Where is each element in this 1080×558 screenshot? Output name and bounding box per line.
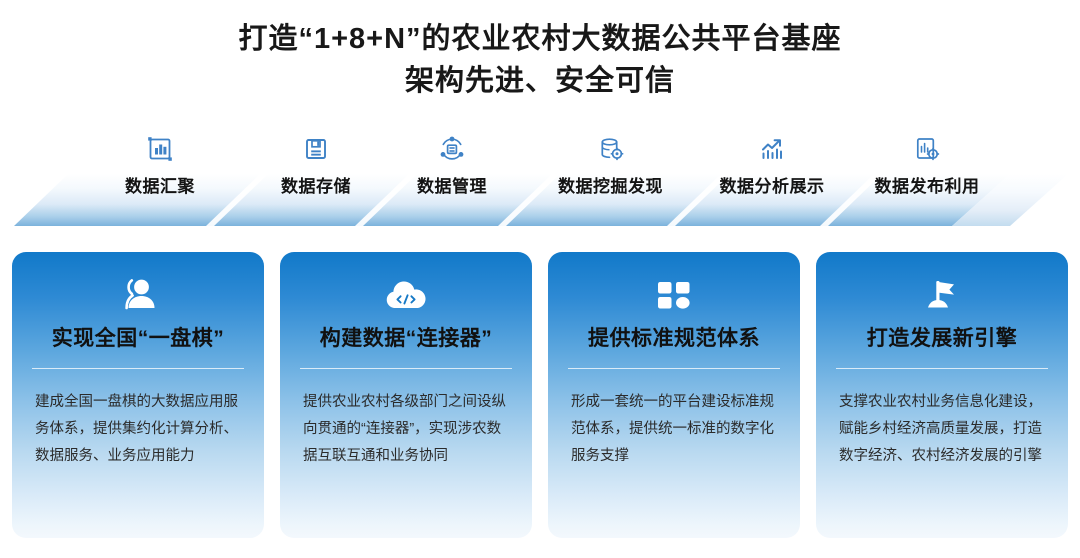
feature-card-body: 提供农业农村各级部门之间设纵向贯通的“连接器”，实现涉农数据互联互通和业务协同 bbox=[303, 389, 509, 470]
feature-card-3[interactable]: 提供标准规范体系 形成一套统一的平台建设标准规范体系，提供统一标准的数字化服务支… bbox=[548, 252, 800, 538]
trending-chart-icon bbox=[757, 132, 787, 166]
floppy-disk-icon bbox=[301, 132, 331, 166]
document-gear-icon bbox=[912, 132, 942, 166]
feature-card-4[interactable]: 打造发展新引擎 支撑农业农村业务信息化建设，赋能乡村经济高质量发展，打造数字经济… bbox=[816, 252, 1068, 538]
bar-chart-frame-icon bbox=[145, 132, 175, 166]
feature-card-list: 实现全国“一盘棋” 建成全国一盘棋的大数据应用服务体系，提供集约化计算分析、数据… bbox=[12, 252, 1068, 538]
feature-card-body: 形成一套统一的平台建设标准规范体系，提供统一标准的数字化服务支撑 bbox=[571, 389, 777, 470]
feature-card-body: 建成全国一盘棋的大数据应用服务体系，提供集约化计算分析、数据服务、业务应用能力 bbox=[35, 389, 241, 470]
process-step-label: 数据分析展示 bbox=[720, 172, 825, 197]
infographic-page: 打造“1+8+N”的农业农村大数据公共平台基座 架构先进、安全可信 bbox=[0, 0, 1080, 558]
feature-card-1[interactable]: 实现全国“一盘棋” 建成全国一盘棋的大数据应用服务体系，提供集约化计算分析、数据… bbox=[12, 252, 264, 538]
process-step-label: 数据汇聚 bbox=[125, 172, 195, 197]
title-line-1: 打造“1+8+N”的农业农村大数据公共平台基座 bbox=[0, 18, 1080, 60]
flag-icon bbox=[816, 272, 1068, 318]
process-step-4[interactable]: 数据挖掘发现 bbox=[528, 128, 693, 230]
process-step-label: 数据管理 bbox=[417, 172, 487, 197]
process-step-3[interactable]: 数据管理 bbox=[384, 128, 520, 230]
process-step-label: 数据发布利用 bbox=[875, 172, 980, 197]
cloud-code-icon bbox=[280, 272, 532, 318]
database-gear-icon bbox=[596, 132, 626, 166]
process-step-2[interactable]: 数据存储 bbox=[248, 128, 384, 230]
node-network-icon bbox=[437, 132, 467, 166]
process-step-5[interactable]: 数据分析展示 bbox=[693, 128, 851, 230]
feature-card-title: 构建数据“连接器” bbox=[280, 322, 532, 352]
card-divider bbox=[300, 368, 512, 369]
feature-card-title: 打造发展新引擎 bbox=[816, 322, 1068, 352]
people-icon bbox=[12, 272, 264, 318]
process-step-list: 数据汇聚 数据存储 bbox=[0, 128, 1080, 230]
feature-card-body: 支撑农业农村业务信息化建设，赋能乡村经济高质量发展，打造数字经济、农村经济发展的… bbox=[839, 389, 1045, 470]
process-band: 数据汇聚 数据存储 bbox=[0, 128, 1080, 230]
feature-card-2[interactable]: 构建数据“连接器” 提供农业农村各级部门之间设纵向贯通的“连接器”，实现涉农数据… bbox=[280, 252, 532, 538]
process-step-1[interactable]: 数据汇聚 bbox=[92, 128, 228, 230]
process-step-6[interactable]: 数据发布利用 bbox=[848, 128, 1006, 230]
feature-card-title: 实现全国“一盘棋” bbox=[12, 322, 264, 352]
process-step-label: 数据挖掘发现 bbox=[558, 172, 663, 197]
grid-blocks-icon bbox=[548, 272, 800, 318]
card-divider bbox=[836, 368, 1048, 369]
card-divider bbox=[568, 368, 780, 369]
title-line-2: 架构先进、安全可信 bbox=[0, 60, 1080, 102]
feature-card-title: 提供标准规范体系 bbox=[548, 322, 800, 352]
process-step-label: 数据存储 bbox=[281, 172, 351, 197]
card-divider bbox=[32, 368, 244, 369]
page-title: 打造“1+8+N”的农业农村大数据公共平台基座 架构先进、安全可信 bbox=[0, 18, 1080, 102]
